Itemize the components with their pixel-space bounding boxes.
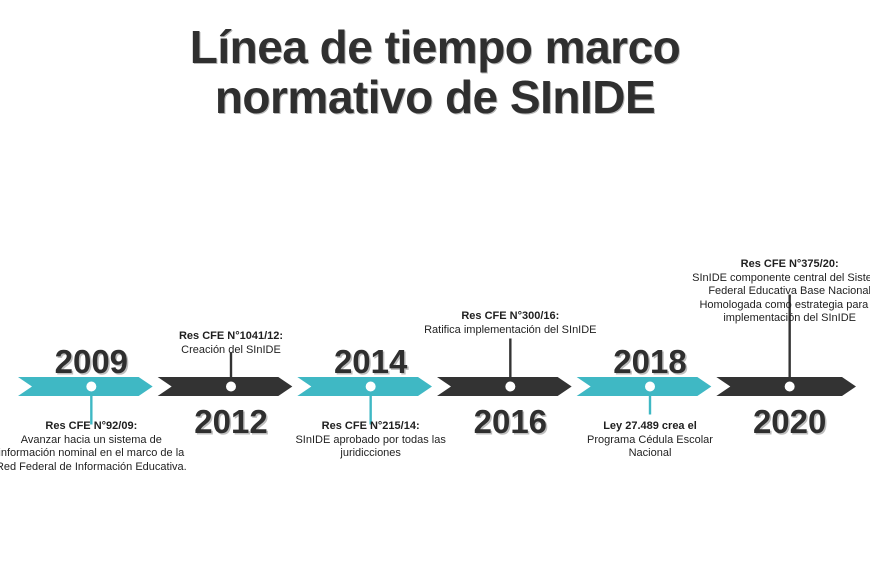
timeline-caption-2012: Res CFE N°1041/12:Creación del SInIDE: [141, 330, 321, 357]
timeline-caption-2009: Res CFE N°92/09:Avanzar hacia un sistema…: [0, 420, 191, 474]
timeline-caption-head-2016: Res CFE N°300/16:: [410, 310, 610, 324]
timeline-segment-2012[interactable]: [158, 377, 293, 396]
timeline-dot-2009[interactable]: [86, 382, 96, 392]
timeline-dot-2016[interactable]: [505, 382, 515, 392]
timeline-caption-head-2012: Res CFE N°1041/12:: [141, 330, 321, 344]
timeline-caption-2016: Res CFE N°300/16:Ratifica implementación…: [410, 310, 610, 337]
timeline-graphic: 200920122014201620182020 Res CFE N°92/09…: [0, 0, 870, 580]
timeline-caption-body-2020: SInIDE componente central del Sistema Fe…: [690, 272, 870, 326]
timeline-caption-body-2018: Programa Cédula Escolar Nacional: [565, 434, 735, 461]
timeline-caption-body-2016: Ratifica implementación del SInIDE: [410, 324, 610, 338]
timeline-year-2020: 2020: [753, 405, 826, 438]
timeline-caption-2018: Ley 27.489 crea elPrograma Cédula Escola…: [565, 420, 735, 461]
timeline-year-2009: 2009: [55, 345, 128, 378]
timeline-year-2014: 2014: [334, 345, 407, 378]
timeline-caption-head-2018: Ley 27.489 crea el: [565, 420, 735, 434]
timeline-year-2018: 2018: [613, 345, 686, 378]
timeline-dot-2018[interactable]: [645, 382, 655, 392]
timeline-segments: [18, 377, 856, 396]
timeline-caption-head-2014: Res CFE N°215/14:: [276, 420, 466, 434]
timeline-dot-2014[interactable]: [366, 382, 376, 392]
timeline-caption-body-2014: SInIDE aprobado por todas las juridiccio…: [276, 434, 466, 461]
timeline-caption-head-2009: Res CFE N°92/09:: [0, 420, 191, 434]
timeline-segment-2016[interactable]: [437, 377, 572, 396]
timeline-year-2012: 2012: [194, 405, 267, 438]
timeline-year-2016: 2016: [474, 405, 547, 438]
timeline-caption-body-2012: Creación del SInIDE: [141, 344, 321, 358]
timeline-caption-head-2020: Res CFE N°375/20:: [690, 258, 870, 272]
timeline-caption-body-2009: Avanzar hacia un sistema de información …: [0, 434, 191, 475]
timeline-caption-2020: Res CFE N°375/20:SInIDE componente centr…: [690, 258, 870, 326]
timeline-dot-2020[interactable]: [785, 382, 795, 392]
timeline-dot-2012[interactable]: [226, 382, 236, 392]
timeline-caption-2014: Res CFE N°215/14:SInIDE aprobado por tod…: [276, 420, 466, 461]
